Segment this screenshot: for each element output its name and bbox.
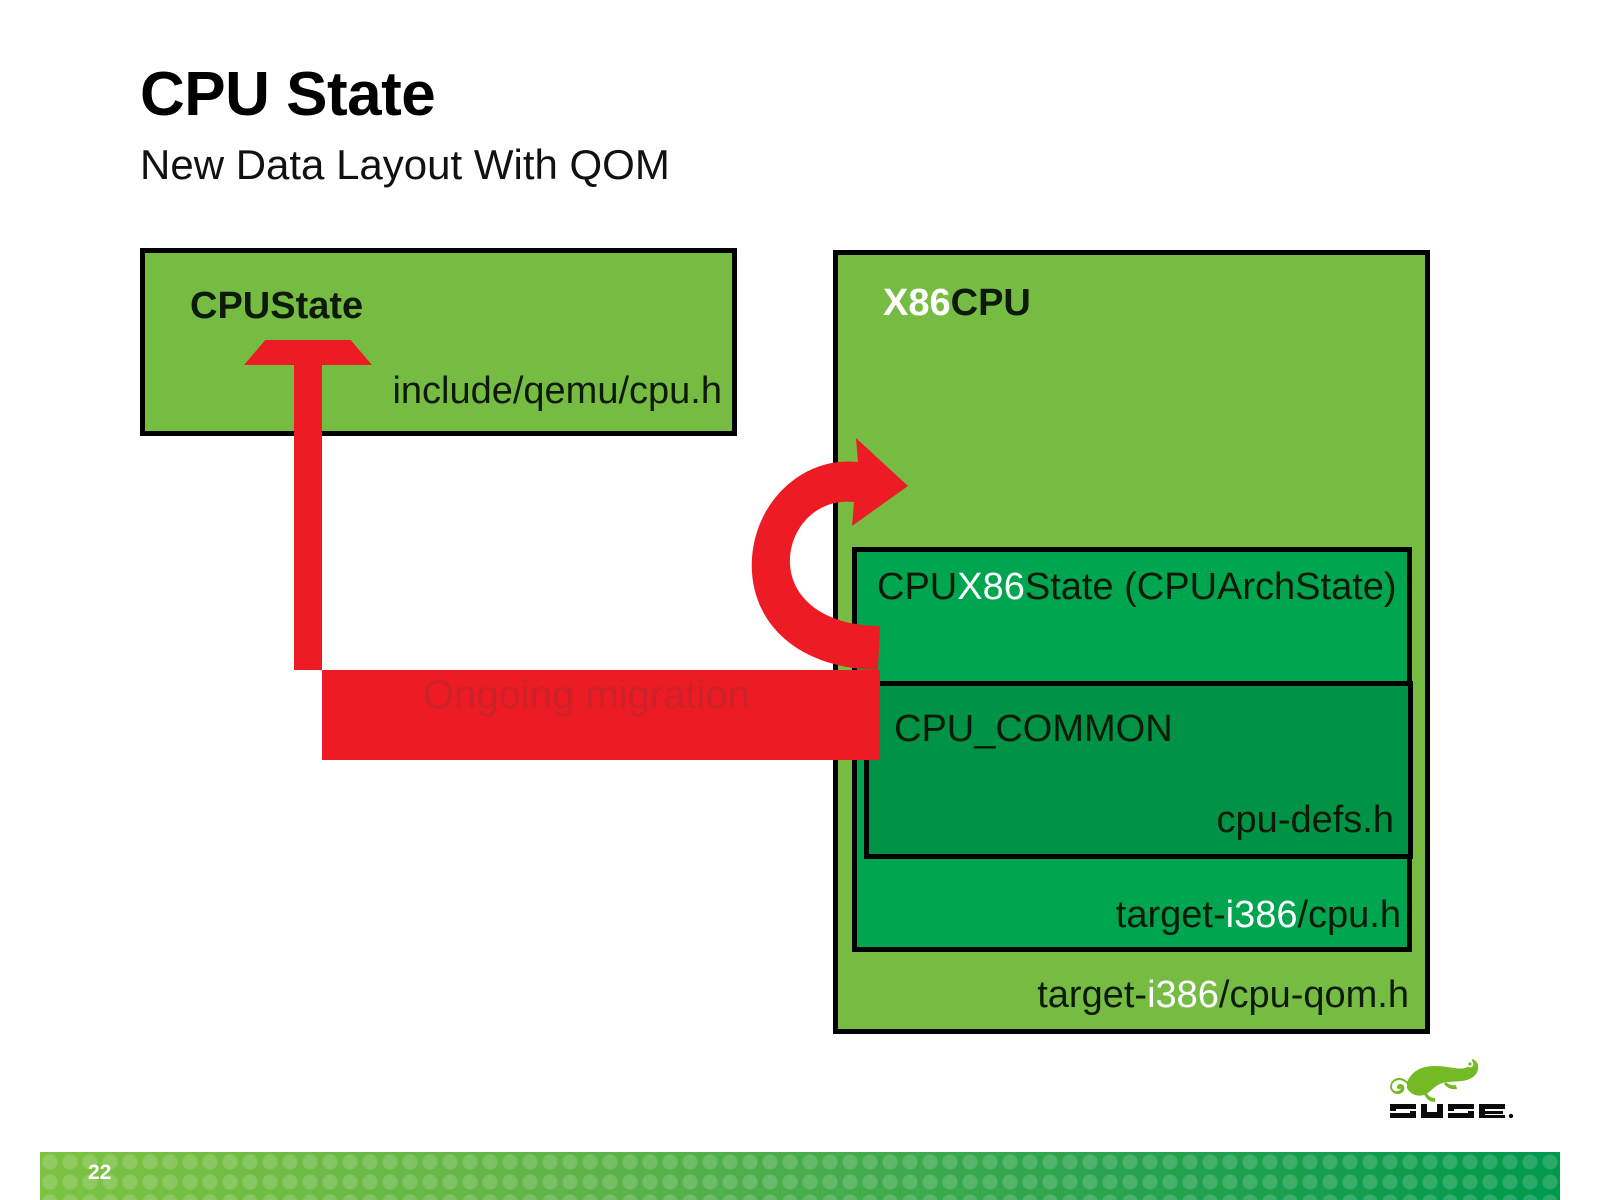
ongoing-migration-caption: Ongoing migration [423, 673, 750, 718]
page-number: 22 [88, 1161, 111, 1185]
cpu-common-box: CPU_COMMON cpu-defs.h [864, 681, 1413, 859]
x86cpu-heading-prefix: X86 [883, 282, 951, 324]
x86cpu-file-label: target-i386/cpu-qom.h [1037, 974, 1409, 1017]
x86cpu-file-suffix: /cpu-qom.h [1219, 974, 1409, 1016]
footer-bar [40, 1152, 1560, 1200]
cpux86state-label-suffix: State (CPUArchState) [1025, 566, 1397, 608]
cpu-common-file-label: cpu-defs.h [1217, 799, 1394, 842]
x86cpu-heading: X86CPU [883, 282, 1031, 325]
cpux86state-label: CPUX86State (CPUArchState) [877, 566, 1397, 609]
x86cpu-heading-suffix: CPU [951, 282, 1031, 324]
cpux86state-file-label: target-i386/cpu.h [1116, 894, 1401, 937]
suse-wordmark [1390, 1104, 1513, 1118]
cpux86state-file-suffix: /cpu.h [1297, 894, 1401, 936]
cpux86state-file-arch: i386 [1226, 894, 1298, 936]
cpustate-heading: CPUState [190, 285, 363, 328]
cpux86state-label-arch: X86 [957, 566, 1025, 608]
suse-logo [1372, 1046, 1524, 1118]
x86cpu-file-prefix: target- [1037, 974, 1147, 1016]
cpu-common-label: CPU_COMMON [894, 708, 1173, 751]
x86cpu-file-arch: i386 [1147, 974, 1219, 1016]
slide-canvas: CPU State New Data Layout With QOM CPUSt… [0, 0, 1600, 1200]
migration-curve-arrow-icon [730, 430, 910, 680]
page-subtitle: New Data Layout With QOM [140, 142, 670, 188]
page-title: CPU State [140, 62, 435, 127]
cpux86state-file-prefix: target- [1116, 894, 1226, 936]
chameleon-icon [1390, 1059, 1478, 1102]
